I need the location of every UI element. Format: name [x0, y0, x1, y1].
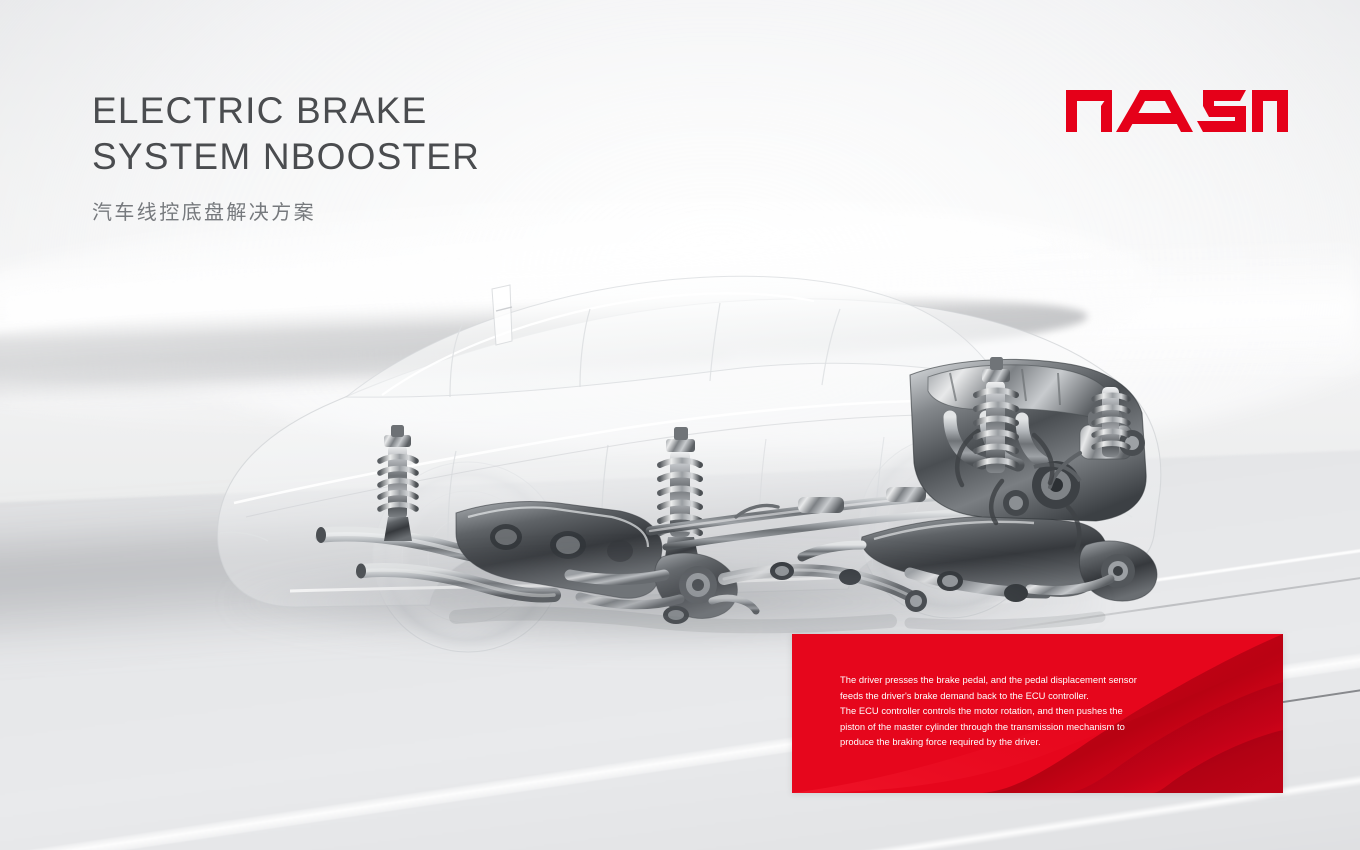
- nasn-logo-svg: [1066, 82, 1288, 134]
- front-coil-spring-right: [1094, 387, 1128, 457]
- nasn-logo: [1066, 82, 1288, 139]
- callout-line-4: piston of the master cylinder through th…: [840, 719, 1150, 735]
- title-line-2: SYSTEM NBOOSTER: [92, 134, 480, 180]
- logo-glyph-a-top: [1134, 90, 1176, 101]
- subtitle-chinese: 汽车线控底盘解决方案: [92, 196, 480, 225]
- nasn-logo-glyphs: [1066, 90, 1288, 132]
- callout-line-3: The ECU controller controls the motor ro…: [840, 703, 1150, 719]
- callout-panel: The driver presses the brake pedal, and …: [792, 634, 1283, 793]
- callout-line-2: feeds the driver's brake demand back to …: [840, 688, 1150, 704]
- car-illustration: [150, 245, 1180, 675]
- logo-glyph-s-upper-stem: [1203, 90, 1214, 106]
- slide-root: ELECTRIC BRAKE SYSTEM NBOOSTER 汽车线控底盘解决方…: [0, 0, 1360, 850]
- callout-line-5: produce the braking force required by th…: [840, 734, 1150, 750]
- logo-glyph-n2-leg: [1277, 90, 1288, 132]
- title-line-1: ELECTRIC BRAKE: [92, 88, 480, 134]
- logo-glyph-s-bottom: [1197, 121, 1246, 132]
- logo-glyph-a-bar: [1132, 113, 1178, 124]
- callout-line-1: The driver presses the brake pedal, and …: [840, 672, 1150, 688]
- callout-text: The driver presses the brake pedal, and …: [840, 672, 1150, 750]
- page-title: ELECTRIC BRAKE SYSTEM NBOOSTER 汽车线控底盘解决方…: [92, 88, 480, 225]
